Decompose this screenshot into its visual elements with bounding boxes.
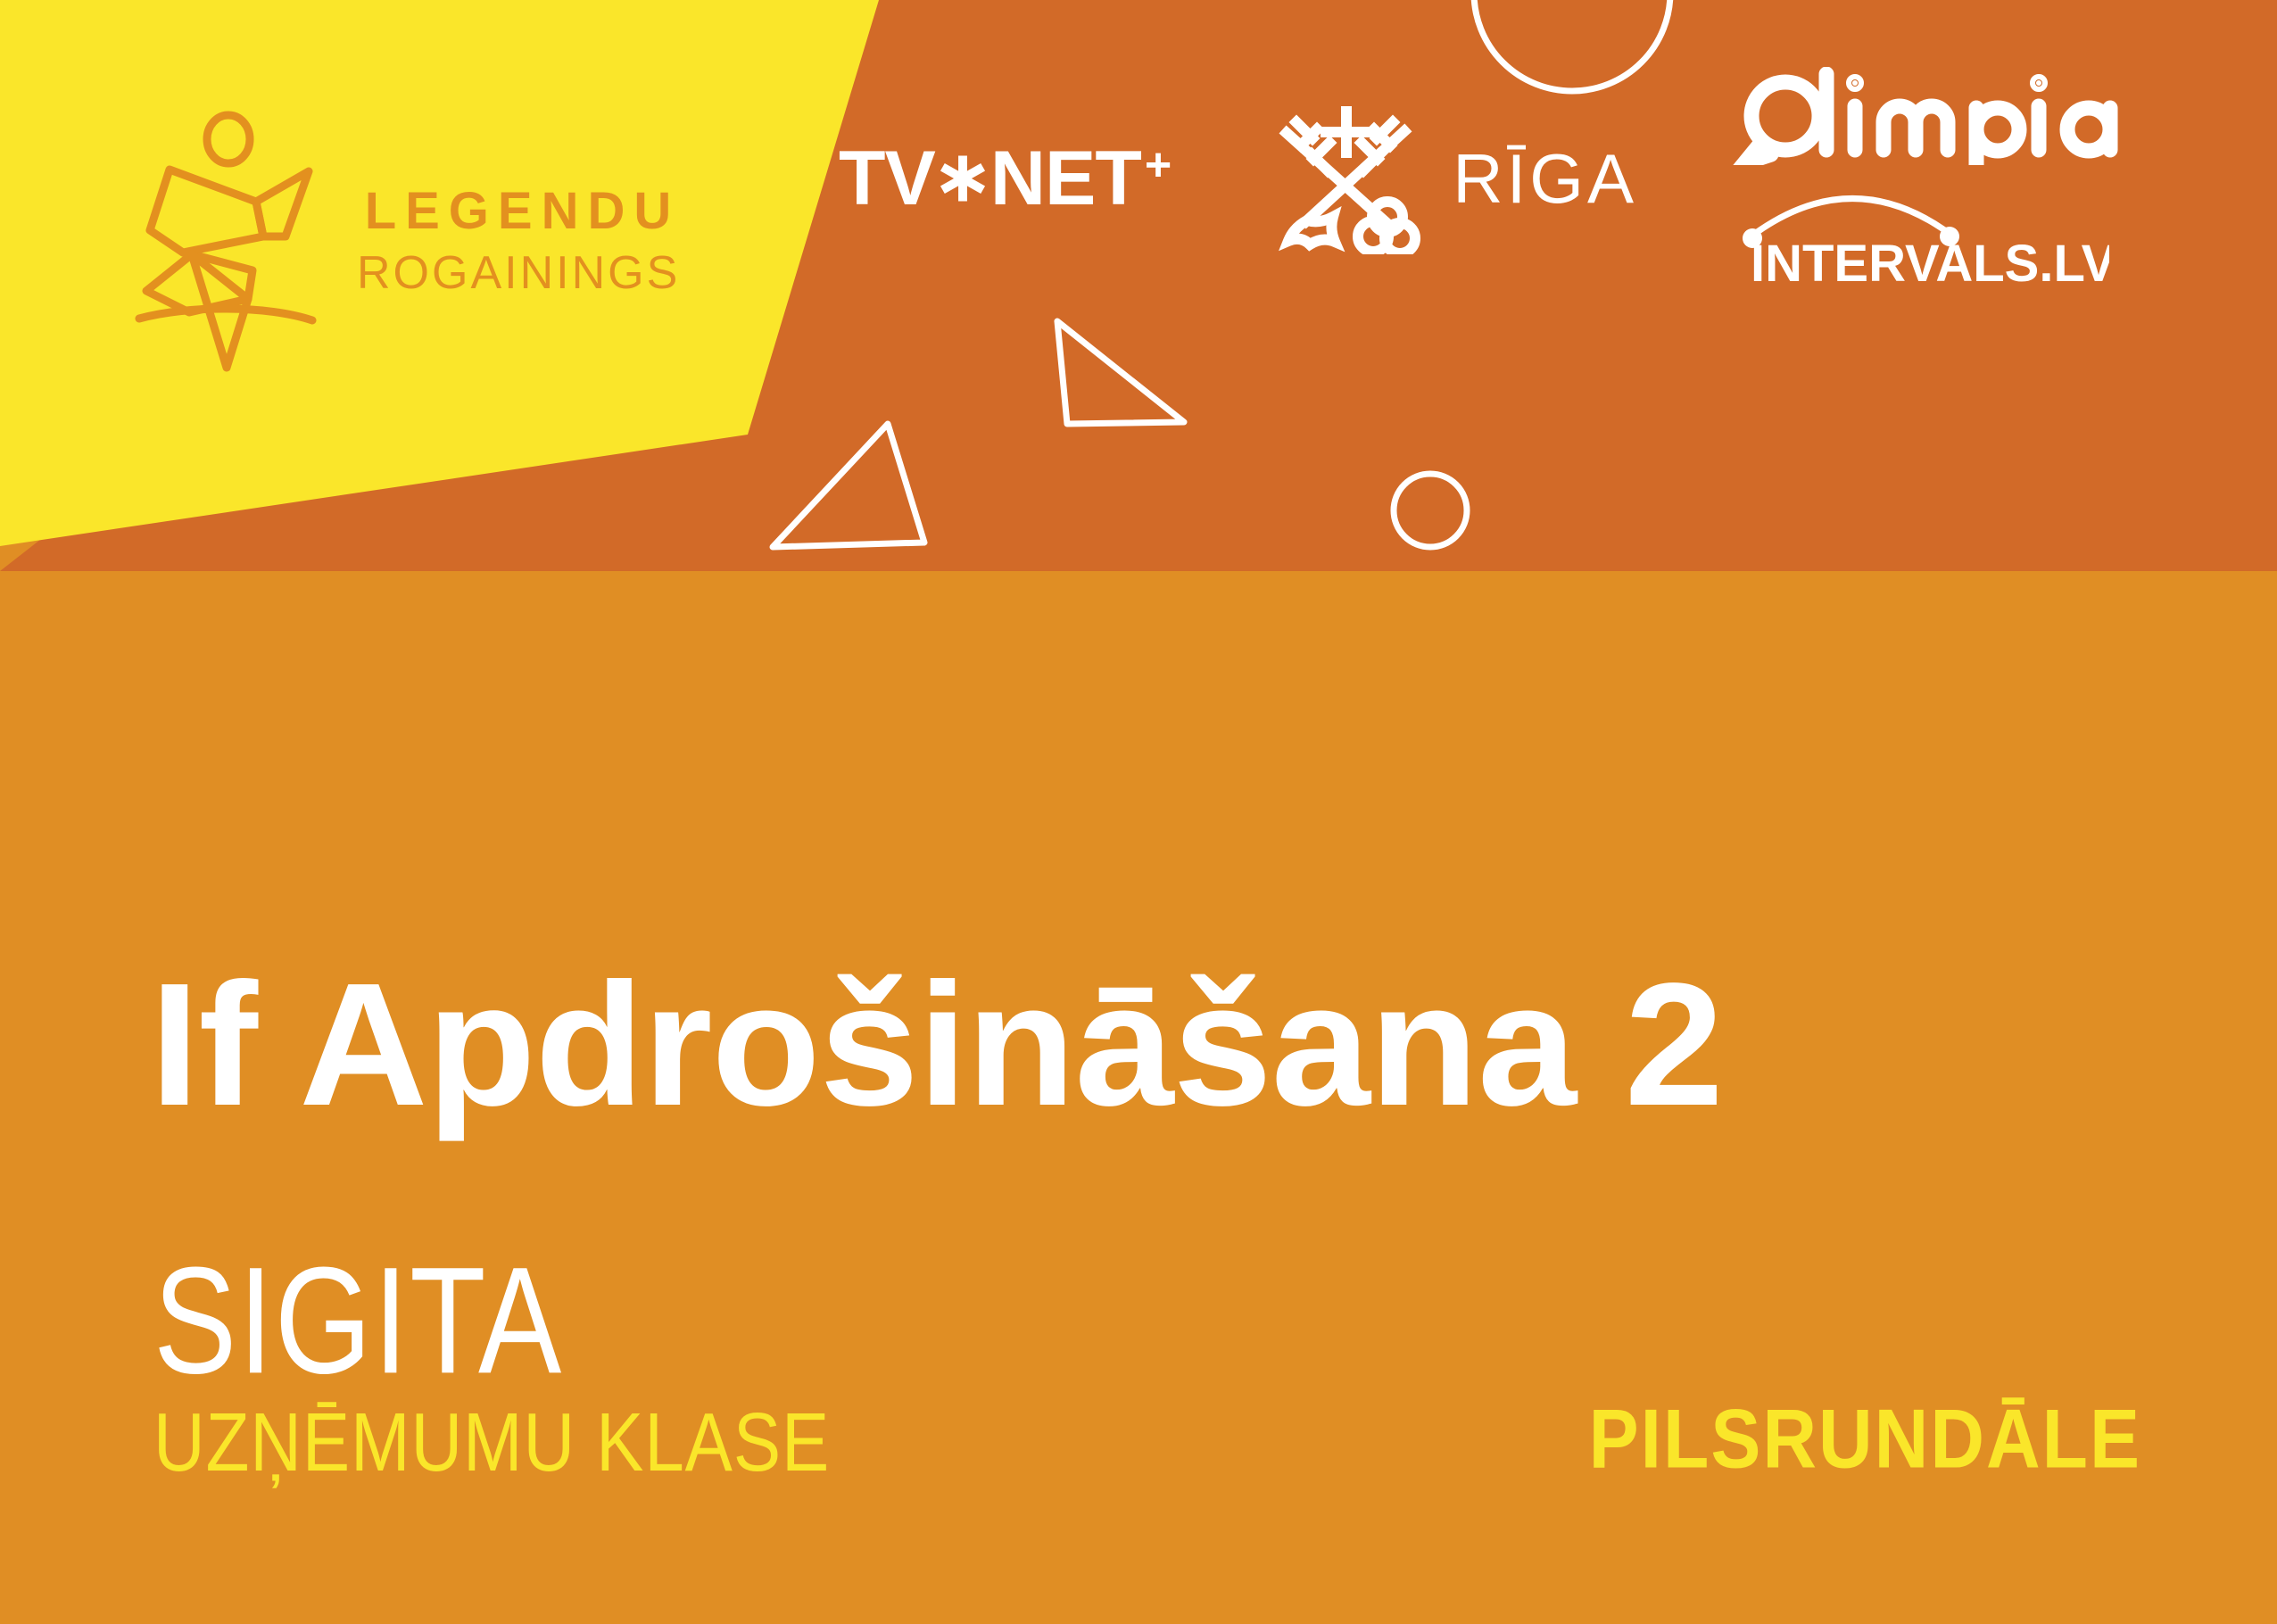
event-logo: LEGENDU ROGAININGS: [134, 107, 680, 375]
event-logo-line1: LEGENDU: [365, 186, 681, 237]
intervals-lv-logo: INTERVALS.LV: [1726, 174, 2109, 290]
poster-canvas: LEGENDU ROGAININGS TV NET +: [0, 0, 2277, 1624]
brand-column: INTERVALS.LV: [1712, 67, 2123, 290]
intervals-lv-label: INTERVALS.LV: [1751, 235, 2109, 290]
riga-logo: RĪGA: [1271, 103, 1637, 254]
tvnet-plus-logo: TV NET +: [839, 140, 1171, 217]
crossed-keys-icon: [1271, 103, 1422, 254]
event-logo-wordmark: LEGENDU ROGAININGS: [357, 186, 680, 296]
olimpia-logo: [1712, 67, 2123, 165]
tvnet-superscript-plus: +: [1145, 142, 1171, 188]
rogaining-runner-icon: [134, 107, 321, 375]
tvnet-text-after: NET: [990, 140, 1141, 217]
page-title: If Apdrošināšana 2: [150, 957, 1723, 1132]
riga-label: RĪGA: [1453, 138, 1637, 220]
asterisk-star-glyph: [937, 153, 989, 204]
sponsor-strip: TV NET +: [839, 94, 2123, 263]
event-logo-line2: ROGAININGS: [357, 250, 680, 296]
runner-name: SIGITA: [153, 1245, 563, 1396]
class-label: UZŅĒMUMU KLASE: [153, 1401, 830, 1483]
place-label: PILSRUNDĀLE: [1589, 1396, 2141, 1480]
tvnet-text-before: TV: [839, 140, 935, 217]
